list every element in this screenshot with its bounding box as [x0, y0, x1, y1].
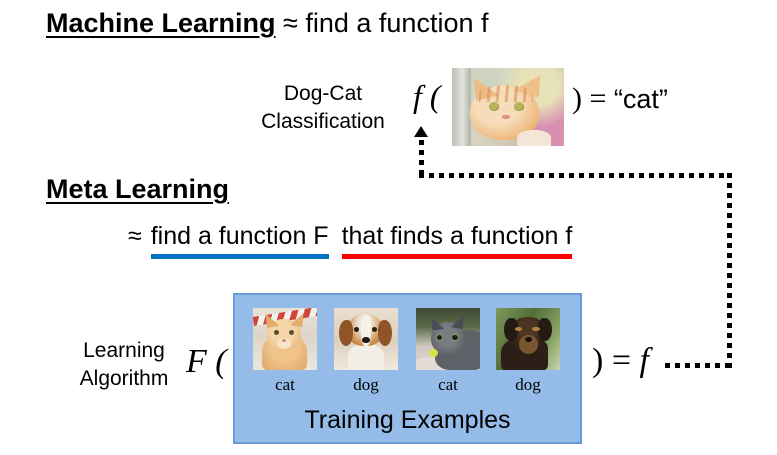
top-result-value: “cat” — [614, 84, 668, 114]
feedback-arrow-segment-bottom — [665, 363, 732, 368]
function-F-open: F ( — [186, 345, 227, 379]
definition-segment-find-F: find a function F — [151, 224, 329, 249]
dog-nose — [362, 337, 370, 343]
function-f-open: f ( — [413, 80, 441, 112]
feedback-arrow-segment-up-left — [419, 140, 424, 177]
training-example-item: cat — [416, 308, 480, 393]
approx-symbol: ≈ — [128, 222, 142, 250]
training-example-label: dog — [496, 376, 560, 393]
meta-learning-heading: Meta Learning — [46, 176, 229, 203]
kitten-paw — [517, 130, 551, 146]
dog-chest — [348, 344, 384, 370]
definition-segment-finds-f: that finds a function f — [342, 224, 573, 249]
training-examples-box: cat dog — [233, 293, 582, 444]
cat-collar-tag — [429, 349, 438, 357]
bottom-example-result: ) = f — [592, 344, 649, 378]
feedback-arrow-segment-top — [419, 173, 732, 178]
learning-algorithm-label: Learning Algorithm — [54, 337, 194, 394]
orange-kitten-photo — [452, 68, 564, 146]
slide-canvas: Machine Learning ≈ find a function f Dog… — [0, 0, 777, 455]
dog-right-eye — [372, 327, 377, 332]
photo-window-frame — [452, 68, 471, 146]
machine-learning-rest: ≈ find a function f — [276, 8, 489, 38]
training-example-label: cat — [416, 376, 480, 393]
training-thumbnail-row: cat dog — [235, 308, 580, 370]
kitten-right-eye — [514, 102, 524, 111]
top-close-paren: ) — [572, 82, 582, 115]
bottom-result-value: f — [640, 342, 649, 379]
training-example-item: dog — [334, 308, 398, 393]
brown-dog-photo — [496, 308, 560, 370]
dog-left-eye — [354, 327, 359, 332]
training-example-label: cat — [253, 376, 317, 393]
top-example-result: ) = “cat” — [572, 84, 668, 114]
training-example-item: dog — [496, 308, 560, 393]
feedback-arrow-segment-right — [727, 173, 732, 368]
orange-cat-photo — [253, 308, 317, 370]
meta-learning-term: Meta Learning — [46, 174, 229, 204]
feedback-arrow-head — [414, 126, 428, 137]
bottom-close-paren: ) — [592, 342, 603, 379]
learning-algorithm-line1: Learning — [54, 337, 194, 365]
cat-right-eye — [452, 335, 457, 340]
machine-learning-heading: Machine Learning ≈ find a function f — [46, 10, 489, 37]
dog-cat-label-line1: Dog-Cat — [248, 80, 398, 108]
learning-algorithm-line2: Algorithm — [54, 365, 194, 393]
kitten-left-eye — [489, 102, 499, 111]
dog-nose — [525, 337, 532, 343]
bottom-equals-sign: = — [612, 342, 631, 379]
dog-cat-classification-label: Dog-Cat Classification — [248, 80, 398, 137]
meta-learning-definition: ≈ find a function Fthat finds a function… — [128, 224, 572, 249]
dog-cat-label-line2: Classification — [248, 108, 398, 136]
beagle-puppy-photo — [334, 308, 398, 370]
dog-right-brow — [532, 327, 539, 331]
gray-cat-photo — [416, 308, 480, 370]
dog-left-brow — [515, 327, 522, 331]
training-examples-caption: Training Examples — [235, 408, 580, 433]
training-example-item: cat — [253, 308, 317, 393]
top-equals-sign: = — [590, 82, 607, 115]
kitten-forehead-stripes — [479, 85, 533, 102]
machine-learning-term: Machine Learning — [46, 8, 276, 38]
training-example-label: dog — [334, 376, 398, 393]
